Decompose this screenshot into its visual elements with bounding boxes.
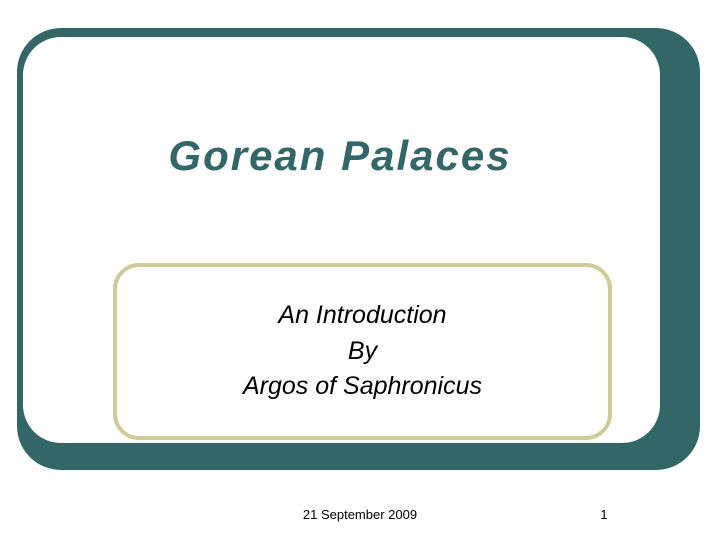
subtitle-line-1: An Introduction <box>278 298 446 334</box>
subtitle-box: An Introduction By Argos of Saphronicus <box>113 263 612 440</box>
subtitle-line-3: Argos of Saphronicus <box>243 369 482 405</box>
presentation-slide: Gorean Palaces An Introduction By Argos … <box>0 0 720 540</box>
subtitle-line-2: By <box>348 334 377 370</box>
page-title: Gorean Palaces <box>40 132 640 180</box>
footer-page-number: 1 <box>560 508 648 521</box>
